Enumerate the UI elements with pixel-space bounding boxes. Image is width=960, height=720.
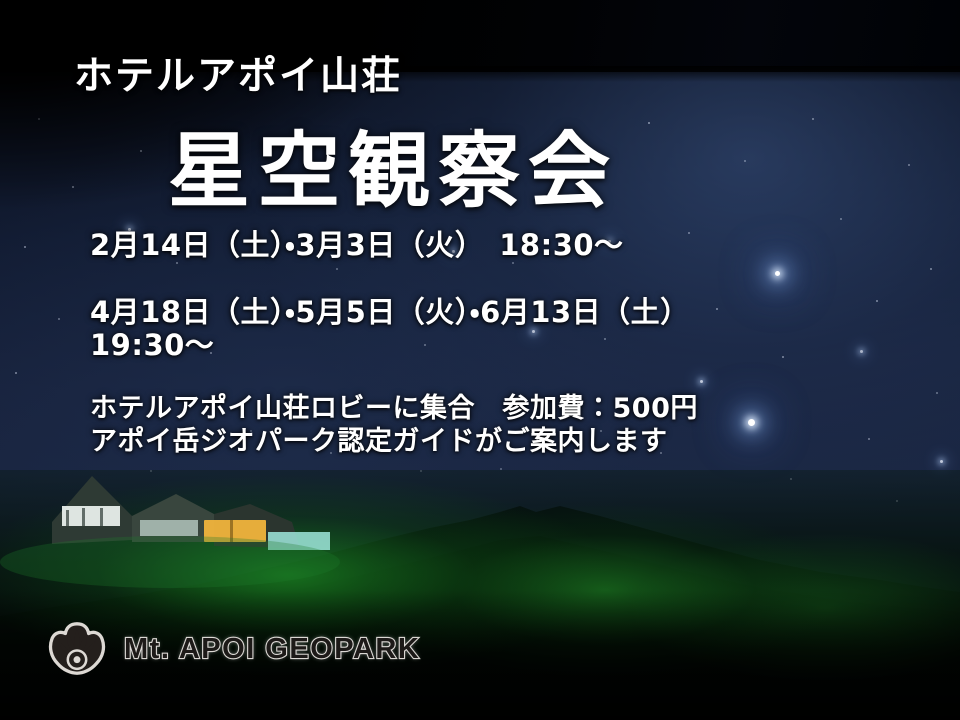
geopark-logo: Mt. APOI GEOPARK <box>46 618 420 680</box>
event-date-line-2-time: 19:30〜 <box>90 322 214 364</box>
poster-text-layer: ホテルアポイ山荘 星空観察会 2月14日（土）・3月3日（火） 18:30〜 4… <box>0 0 960 720</box>
event-date-line-1: 2月14日（土）・3月3日（火） 18:30〜 <box>90 222 624 264</box>
geopark-logo-text: Mt. APOI GEOPARK <box>124 633 420 666</box>
page-title: 星空観察会 <box>168 104 618 223</box>
apoi-flower-emblem-icon <box>46 618 108 680</box>
guide-note: アポイ岳ジオパーク認定ガイドがご案内します <box>90 419 668 458</box>
stargazing-event-poster: ホテルアポイ山荘 星空観察会 2月14日（土）・3月3日（火） 18:30〜 4… <box>0 0 960 720</box>
hotel-name-heading: ホテルアポイ山荘 <box>74 45 402 101</box>
